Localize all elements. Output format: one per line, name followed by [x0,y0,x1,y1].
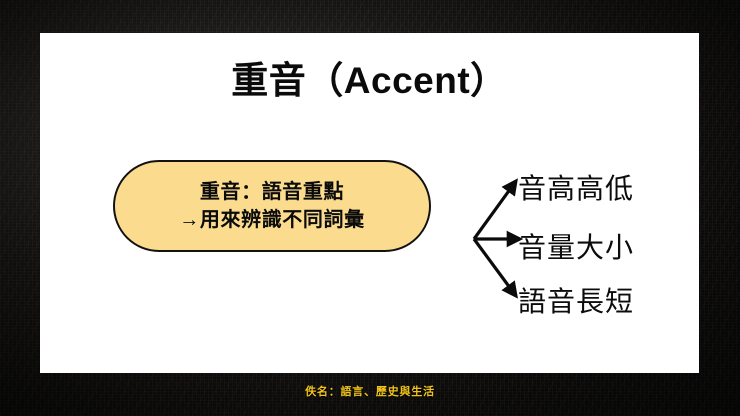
slide-canvas: 重音（Accent） 重音：語音重點 →用來辨識不同詞彙 音高高低 音量大小 語… [0,0,740,416]
arrow-to-branch-0 [474,181,516,239]
concept-line-primary: 重音：語音重點 [200,180,344,204]
branch-label-volume: 音量大小 [518,226,634,266]
arrow-to-branch-2 [474,239,516,296]
concept-line-secondary: →用來辨識不同詞彙 [179,208,364,232]
branch-label-duration: 語音長短 [518,280,634,320]
branch-label-pitch: 音高高低 [518,167,634,207]
footer-caption: 佚名：語言、歷史與生活 [0,383,740,399]
slide-white-card: 重音（Accent） 重音：語音重點 →用來辨識不同詞彙 音高高低 音量大小 語… [40,33,699,373]
concept-pill: 重音：語音重點 →用來辨識不同詞彙 [113,160,431,252]
page-title: 重音（Accent） [40,50,699,104]
